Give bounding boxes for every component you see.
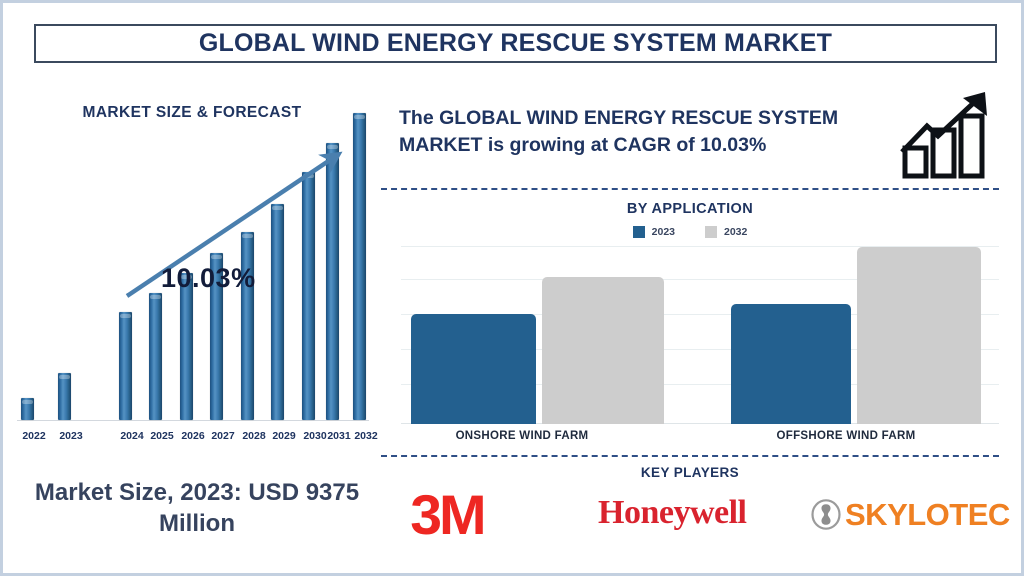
forecast-bar-2030 bbox=[302, 172, 315, 420]
key-players-title: KEY PLAYERS bbox=[381, 465, 999, 480]
legend-item-2032: 2032 bbox=[705, 226, 747, 238]
forecast-baseline bbox=[17, 420, 369, 421]
cagr-callout: 10.03% bbox=[161, 263, 256, 294]
divider-top bbox=[381, 188, 999, 190]
legend-label-2032: 2032 bbox=[724, 226, 747, 238]
forecast-bar-2022 bbox=[21, 398, 34, 420]
bar-offshore-2032 bbox=[857, 247, 981, 424]
forecast-bar-2023 bbox=[58, 373, 71, 420]
forecast-bar-2025 bbox=[149, 293, 162, 420]
growth-bar-chart-arrow-icon bbox=[897, 90, 1009, 182]
forecast-bar-2032 bbox=[353, 113, 366, 420]
forecast-bar-2024 bbox=[119, 312, 132, 420]
skylotec-mark-icon bbox=[811, 499, 841, 530]
forecast-xtick-2025: 2025 bbox=[145, 430, 179, 442]
forecast-xtick-2026: 2026 bbox=[176, 430, 210, 442]
category-label-onshore: ONSHORE WIND FARM bbox=[381, 430, 663, 442]
logo-skylotec: SKYLOTEC bbox=[811, 499, 1010, 530]
page-title: GLOBAL WIND ENERGY RESCUE SYSTEM MARKET bbox=[199, 29, 832, 58]
legend-item-2023: 2023 bbox=[633, 226, 675, 238]
forecast-xtick-2028: 2028 bbox=[237, 430, 271, 442]
logo-skylotec-text: SKYLOTEC bbox=[845, 499, 1010, 530]
by-application-chart bbox=[401, 246, 999, 424]
infographic-canvas: GLOBAL WIND ENERGY RESCUE SYSTEM MARKET … bbox=[0, 0, 1024, 576]
forecast-xtick-2027: 2027 bbox=[206, 430, 240, 442]
growth-statement: The GLOBAL WIND ENERGY RESCUE SYSTEM MAR… bbox=[399, 105, 897, 158]
bar-onshore-2032 bbox=[542, 277, 664, 424]
forecast-bar-2029 bbox=[271, 204, 284, 420]
by-application-panel: The GLOBAL WIND ENERGY RESCUE SYSTEM MAR… bbox=[381, 88, 1021, 488]
legend-swatch-2032 bbox=[705, 226, 717, 238]
category-label-offshore: OFFSHORE WIND FARM bbox=[701, 430, 991, 442]
by-application-title: BY APPLICATION bbox=[381, 201, 999, 217]
bar-onshore-2023 bbox=[411, 314, 536, 424]
legend-swatch-2023 bbox=[633, 226, 645, 238]
forecast-xtick-2023: 2023 bbox=[54, 430, 88, 442]
by-application-legend: 2023 2032 bbox=[381, 226, 999, 238]
forecast-xtick-2024: 2024 bbox=[115, 430, 149, 442]
forecast-bar-2026 bbox=[180, 273, 193, 420]
logo-honeywell: Honeywell bbox=[598, 496, 746, 530]
divider-bottom bbox=[381, 455, 999, 457]
forecast-xtick-2032: 2032 bbox=[349, 430, 383, 442]
logo-3m: 3M bbox=[410, 487, 483, 543]
page-title-box: GLOBAL WIND ENERGY RESCUE SYSTEM MARKET bbox=[34, 24, 997, 63]
key-players-logos: 3M Honeywell SKYLOTEC bbox=[393, 487, 1013, 553]
forecast-bar-2028 bbox=[241, 232, 254, 420]
legend-label-2023: 2023 bbox=[652, 226, 675, 238]
forecast-xtick-2029: 2029 bbox=[267, 430, 301, 442]
market-size-forecast-panel: MARKET SIZE & FORECAST 2022 2023 2024 20… bbox=[3, 88, 381, 448]
market-size-value: Market Size, 2023: USD 9375 Million bbox=[11, 478, 383, 539]
forecast-bar-2031 bbox=[326, 143, 339, 420]
forecast-xtick-2022: 2022 bbox=[17, 430, 51, 442]
bar-offshore-2023 bbox=[731, 304, 851, 424]
